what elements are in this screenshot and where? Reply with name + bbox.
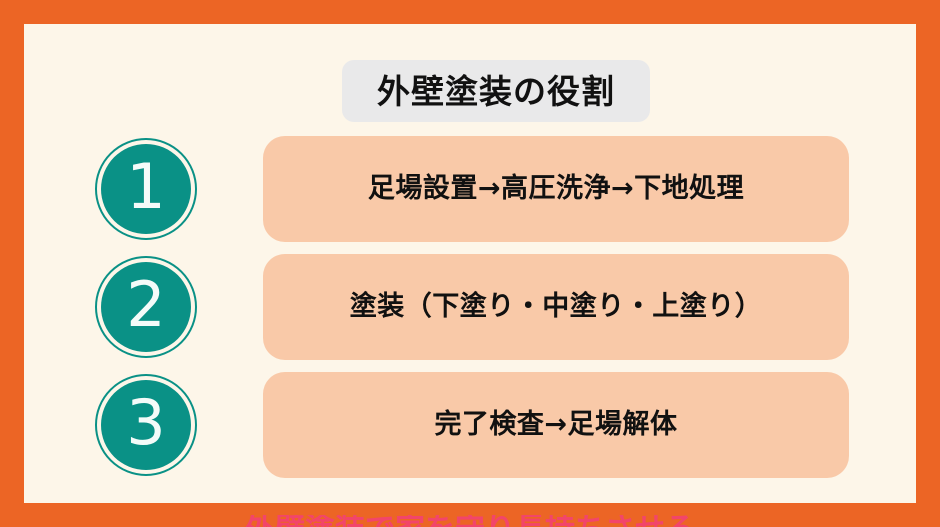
step-text-box-3: 完了検査→足場解体: [263, 372, 849, 478]
bottom-bleed-text: 外壁塗装で家を守り長持ちさせる: [0, 515, 940, 527]
step-number-badge-2: 2: [95, 256, 197, 358]
step-row: 3 完了検査→足場解体: [24, 372, 916, 478]
badge-disc: 1: [101, 144, 191, 234]
step-number-label: 2: [126, 274, 165, 336]
badge-disc: 3: [101, 380, 191, 470]
title-box: 外壁塗装の役割: [342, 60, 650, 122]
page-title: 外壁塗装の役割: [377, 75, 615, 108]
step-row: 2 塗装（下塗り・中塗り・上塗り）: [24, 254, 916, 360]
title-container: 外壁塗装の役割: [342, 60, 650, 122]
inner-panel: 外壁塗装の役割 1 足場設置→高圧洗浄→下地処理 2: [24, 24, 916, 503]
slide-canvas: 外壁塗装の役割 1 足場設置→高圧洗浄→下地処理 2: [0, 0, 940, 527]
step-number-label: 1: [126, 156, 165, 218]
step-text-box-2: 塗装（下塗り・中塗り・上塗り）: [263, 254, 849, 360]
step-label: 足場設置→高圧洗浄→下地処理: [368, 172, 744, 206]
step-label: 塗装（下塗り・中塗り・上塗り）: [350, 290, 763, 324]
step-number-badge-3: 3: [95, 374, 197, 476]
step-number-badge-1: 1: [95, 138, 197, 240]
step-number-label: 3: [126, 392, 165, 454]
badge-disc: 2: [101, 262, 191, 352]
step-row: 1 足場設置→高圧洗浄→下地処理: [24, 136, 916, 242]
step-text-box-1: 足場設置→高圧洗浄→下地処理: [263, 136, 849, 242]
bleed-text-label: 外壁塗装で家を守り長持ちさせる: [0, 515, 940, 527]
step-label: 完了検査→足場解体: [434, 408, 677, 442]
